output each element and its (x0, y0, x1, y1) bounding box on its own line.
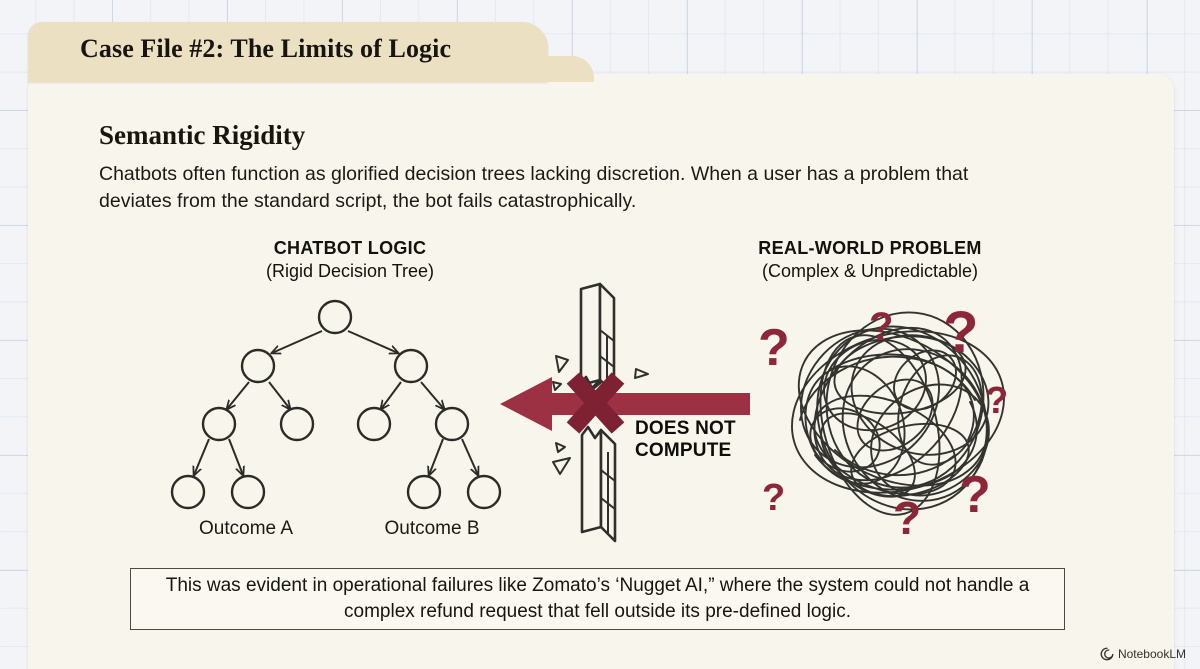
notebooklm-watermark: NotebookLM (1100, 647, 1186, 661)
real-world-problem-header: REAL-WORLD PROBLEM (Complex & Unpredicta… (700, 238, 1040, 282)
caption-box: This was evident in operational failures… (130, 568, 1065, 630)
outcome-a-label: Outcome A (166, 518, 326, 540)
real-world-problem-subtitle: (Complex & Unpredictable) (700, 261, 1040, 282)
does-not-compute-label: DOES NOT COMPUTE (635, 418, 736, 462)
folder-tab: Case File #2: The Limits of Logic (28, 22, 548, 82)
dnc-line-1: DOES NOT (635, 418, 736, 440)
case-file-title: Case File #2: The Limits of Logic (80, 34, 451, 64)
real-world-problem-title: REAL-WORLD PROBLEM (700, 238, 1040, 259)
notebooklm-spiral-icon (1100, 647, 1114, 661)
dnc-line-2: COMPUTE (635, 440, 736, 462)
caption-text: This was evident in operational failures… (131, 569, 1064, 629)
watermark-label: NotebookLM (1118, 647, 1186, 661)
chatbot-logic-title: CHATBOT LOGIC (180, 238, 520, 259)
intro-paragraph: Chatbots often function as glorified dec… (99, 161, 1029, 215)
chatbot-logic-header: CHATBOT LOGIC (Rigid Decision Tree) (180, 238, 520, 282)
outcome-b-label: Outcome B (352, 518, 512, 540)
chatbot-logic-subtitle: (Rigid Decision Tree) (180, 261, 520, 282)
section-heading: Semantic Rigidity (99, 120, 305, 151)
